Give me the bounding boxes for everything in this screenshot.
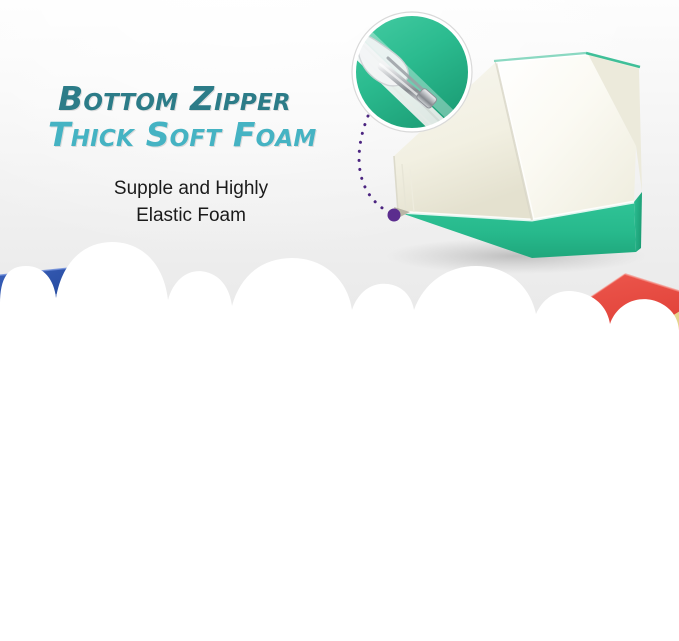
top-feature-panel: Bottom Zipper Thick Soft Foam Supple and…: [0, 0, 679, 330]
top-body-copy: Supple and Highly Elastic Foam: [66, 176, 316, 230]
bottom-feature-panel: Safety-Focused Velcro Design Safely conn…: [0, 330, 679, 641]
infographic-page: Bottom Zipper Thick Soft Foam Supple and…: [0, 0, 679, 641]
top-headline-line2: Thick Soft Foam: [48, 118, 317, 152]
cloud-scallop-divider: [0, 222, 679, 330]
top-headline-line1: Bottom Zipper: [58, 82, 291, 116]
callout-dotted-connector: [359, 116, 392, 214]
callout-anchor-dot: [388, 209, 401, 222]
